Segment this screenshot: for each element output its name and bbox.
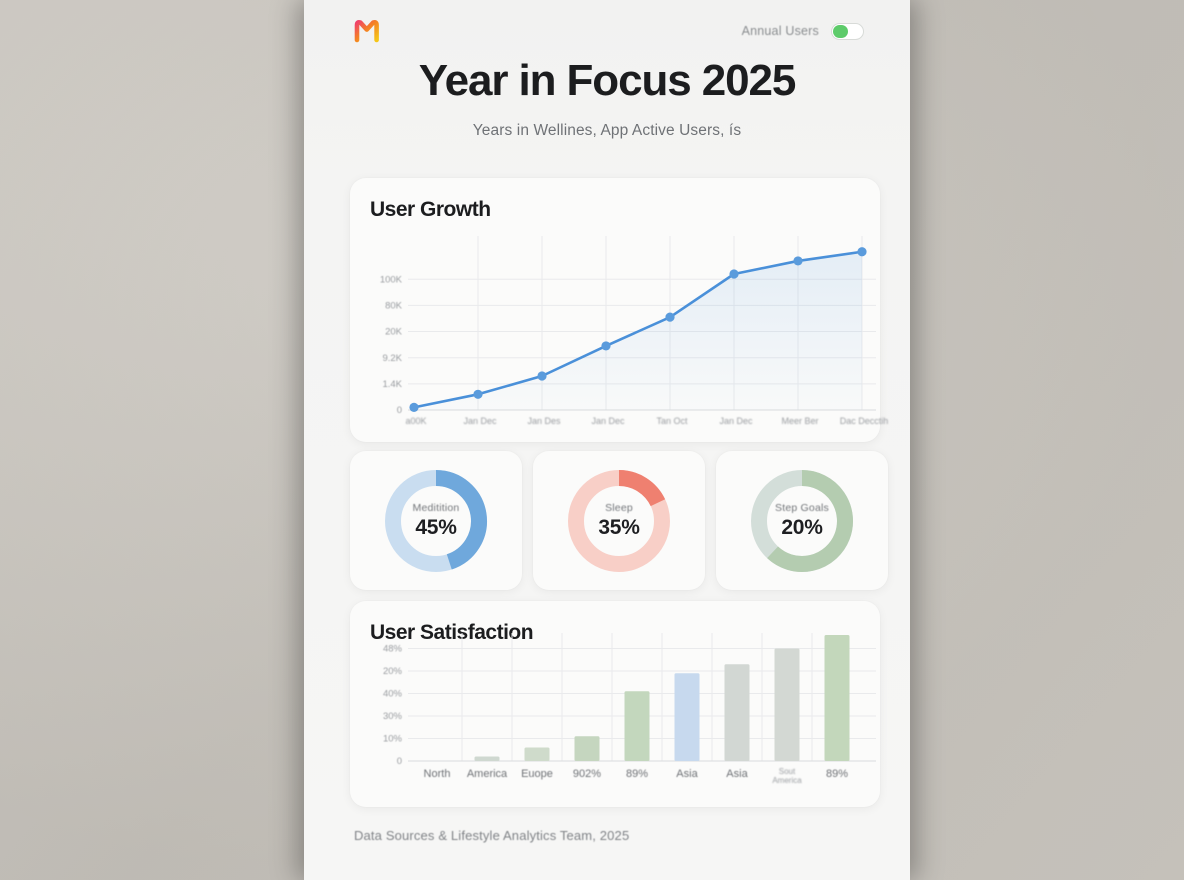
bar-chart-xtick: Sout (779, 767, 796, 776)
bar-chart-ytick: 30% (383, 711, 403, 722)
line-chart-ytick: 9.2K (382, 353, 402, 364)
user-growth-chart[interactable]: 100K80K20K9.2K1.4K0a00KJan DecJan DesJan… (350, 178, 880, 442)
line-chart-xtick: Jan Dec (719, 416, 753, 426)
donut-arc (619, 478, 658, 503)
line-data-point[interactable] (537, 371, 546, 380)
hero-section: Year in Focus 2025 Years in Wellines, Ap… (304, 58, 910, 140)
line-data-point[interactable] (793, 256, 802, 265)
line-chart-ytick: 20K (385, 327, 403, 338)
line-chart-ytick: 0 (397, 405, 402, 416)
bar-chart-xtick: Asia (726, 768, 748, 780)
annual-users-label: Annual Users (742, 24, 819, 38)
line-chart-xtick: Jan Dec (463, 416, 497, 426)
line-chart-xtick: Meer Ber (781, 416, 818, 426)
bar-chart-xtick: America (467, 768, 508, 780)
annual-users-toggle[interactable] (831, 23, 864, 40)
donut-chart-step-goals (716, 451, 888, 590)
bar-chart-xtick: North (424, 768, 451, 780)
top-bar: Annual Users (304, 0, 910, 62)
line-data-point[interactable] (473, 390, 482, 399)
line-data-point[interactable] (601, 341, 610, 350)
page-subtitle: Years in Wellines, App Active Users, ís (304, 122, 910, 140)
donut-chart-meditation (350, 451, 522, 590)
line-chart-xtick: Tan Oct (656, 416, 688, 426)
line-chart-xtick: Jan Des (527, 416, 561, 426)
bar[interactable] (625, 691, 650, 761)
toggle-knob (833, 25, 848, 38)
line-chart-xtick: Jan Dec (591, 416, 625, 426)
line-data-point[interactable] (729, 269, 738, 278)
bar-chart-ytick: 10% (383, 734, 403, 745)
line-data-point[interactable] (857, 247, 866, 256)
bar-chart-xtick: 902% (573, 768, 601, 780)
line-data-point[interactable] (409, 403, 418, 412)
donut-card-meditation[interactable]: Meditition 45% (350, 451, 522, 590)
donut-arc (436, 478, 479, 562)
line-data-point[interactable] (665, 313, 674, 322)
bar[interactable] (675, 673, 700, 761)
bar[interactable] (475, 757, 500, 762)
bar-chart-xtick: 89% (626, 768, 648, 780)
bar[interactable] (775, 649, 800, 762)
bar-chart-ytick: 0 (397, 756, 402, 767)
bar-chart-xtick: Asia (676, 768, 698, 780)
bar-chart-xtick: America (772, 776, 802, 785)
donut-chart-sleep (533, 451, 705, 590)
bar-chart-xtick: 89% (826, 768, 848, 780)
line-chart-ytick: 1.4K (382, 379, 402, 390)
donut-card-step-goals[interactable]: Step Goals 20% (716, 451, 888, 590)
line-chart-xtick: Dac Decctih (840, 416, 889, 426)
bar-chart-ytick: 40% (383, 689, 403, 700)
bar[interactable] (725, 664, 750, 761)
user-satisfaction-chart[interactable]: 48%20%40%30%10%0NorthAmericaEuope902%89%… (350, 601, 880, 807)
line-chart-xtick: a00K (405, 416, 426, 426)
line-chart-ytick: 80K (385, 301, 403, 312)
annual-users-toggle-group[interactable]: Annual Users (742, 23, 864, 40)
bar-chart-xtick: Euope (521, 768, 553, 780)
donut-card-sleep[interactable]: Sleep 35% (533, 451, 705, 590)
report-page: Annual Users Year in Focus 2025 Years in… (304, 0, 910, 880)
bar[interactable] (525, 748, 550, 762)
bar[interactable] (825, 635, 850, 761)
bar[interactable] (575, 736, 600, 761)
m-logo-icon[interactable] (354, 19, 380, 43)
user-growth-card[interactable]: User Growth 100K80K20K9.2K1.4K0a00KJan D… (350, 178, 880, 442)
footer-credit: Data Sources & Lifestyle Analytics Team,… (354, 828, 629, 843)
bar-chart-ytick: 48% (383, 644, 403, 655)
line-chart-ytick: 100K (380, 274, 403, 285)
page-title: Year in Focus 2025 (304, 58, 910, 104)
bar-chart-ytick: 20% (383, 666, 403, 677)
user-satisfaction-card[interactable]: User Satisfaction 48%20%40%30%10%0NorthA… (350, 601, 880, 807)
